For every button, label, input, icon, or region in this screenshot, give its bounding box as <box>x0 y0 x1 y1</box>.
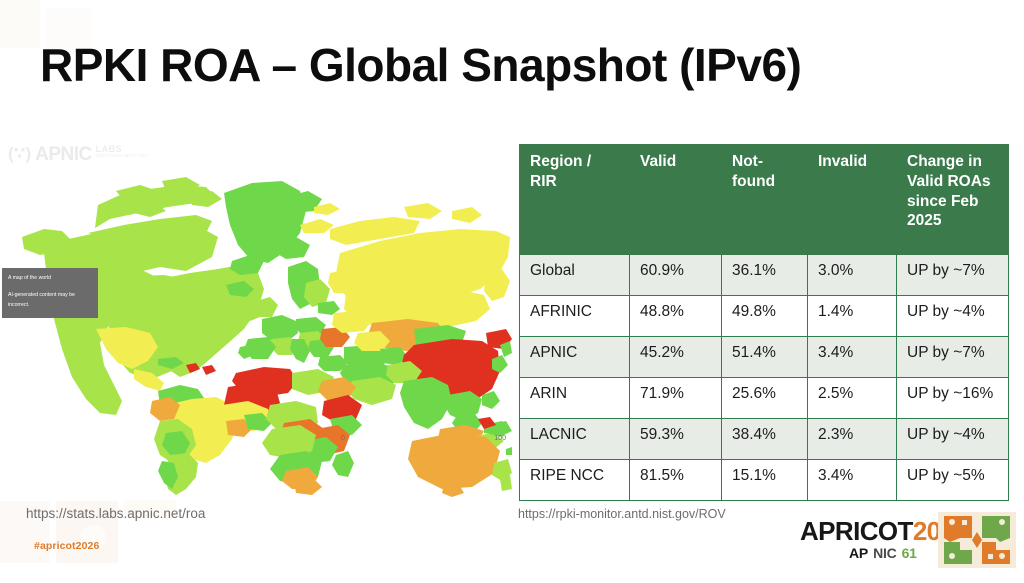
cell-not-found: 15.1% <box>722 460 808 501</box>
cell-invalid: 3.4% <box>808 460 897 501</box>
cell-not-found: 36.1% <box>722 255 808 296</box>
cell-invalid: 2.3% <box>808 419 897 460</box>
table-row: LACNIC 59.3% 38.4% 2.3% UP by ~4% <box>520 419 1009 460</box>
source-link-nist[interactable]: https://rpki-monitor.antd.nist.gov/ROV <box>518 507 726 521</box>
world-map-figure: (∵) APNIC LABS http://stats.apnic.net A … <box>0 133 512 500</box>
logo-batik-motif-icon <box>938 512 1016 568</box>
cell-valid: 48.8% <box>630 296 722 337</box>
page-title: RPKI ROA – Global Snapshot (IPv6) <box>40 40 970 91</box>
ai-content-disclaimer: A map of the world AI-generated content … <box>2 268 98 318</box>
cell-valid: 45.2% <box>630 337 722 378</box>
cell-region: LACNIC <box>520 419 630 460</box>
cell-not-found: 49.8% <box>722 296 808 337</box>
cell-change: UP by ~4% <box>897 296 1009 337</box>
logo-ap-text: AP <box>849 545 868 561</box>
cell-region: APNIC <box>520 337 630 378</box>
column-header-invalid: Invalid <box>808 145 897 255</box>
scale-max-label: 100 <box>494 435 506 442</box>
cell-valid: 59.3% <box>630 419 722 460</box>
cell-valid: 60.9% <box>630 255 722 296</box>
cell-not-found: 51.4% <box>722 337 808 378</box>
table-header-row: Region / RIR Valid Not-found Invalid Cha… <box>520 145 1009 255</box>
source-link-apnic[interactable]: https://stats.labs.apnic.net/roa <box>26 506 205 521</box>
cell-change: UP by ~16% <box>897 378 1009 419</box>
logo-apricot-text: APRICOT <box>800 518 913 544</box>
logo-nic-text: NIC <box>873 545 897 561</box>
table-row: AFRINIC 48.8% 49.8% 1.4% UP by ~4% <box>520 296 1009 337</box>
ai-disclaimer-warning: AI-generated content may be incorrect. <box>8 291 92 311</box>
column-header-region: Region / RIR <box>520 145 630 255</box>
cell-not-found: 25.6% <box>722 378 808 419</box>
cell-invalid: 3.0% <box>808 255 897 296</box>
apricot-2026-logo: APRICOT 2026 AP NIC 61 <box>794 512 1016 568</box>
event-hashtag: #apricot2026 <box>34 540 99 552</box>
logo-number-text: 61 <box>902 545 917 561</box>
cell-invalid: 1.4% <box>808 296 897 337</box>
cell-change: UP by ~7% <box>897 255 1009 296</box>
column-header-valid: Valid <box>630 145 722 255</box>
table-row: ARIN 71.9% 25.6% 2.5% UP by ~16% <box>520 378 1009 419</box>
cell-invalid: 2.5% <box>808 378 897 419</box>
cell-region: AFRINIC <box>520 296 630 337</box>
cell-invalid: 3.4% <box>808 337 897 378</box>
cell-region: Global <box>520 255 630 296</box>
logo-apnic-line: AP NIC 61 <box>849 545 917 561</box>
cell-region: ARIN <box>520 378 630 419</box>
cell-change: UP by ~7% <box>897 337 1009 378</box>
table-row: RIPE NCC 81.5% 15.1% 3.4% UP by ~5% <box>520 460 1009 501</box>
column-header-not-found: Not-found <box>722 145 808 255</box>
map-color-scale: 0 100 <box>0 435 512 449</box>
cell-not-found: 38.4% <box>722 419 808 460</box>
cell-valid: 81.5% <box>630 460 722 501</box>
table-row: APNIC 45.2% 51.4% 3.4% UP by ~7% <box>520 337 1009 378</box>
scale-min-label: 0 <box>341 435 345 442</box>
cell-change: UP by ~5% <box>897 460 1009 501</box>
table-row: Global 60.9% 36.1% 3.0% UP by ~7% <box>520 255 1009 296</box>
column-header-change: Change in Valid ROAs since Feb 2025 <box>897 145 1009 255</box>
cell-change: UP by ~4% <box>897 419 1009 460</box>
rpki-roa-statistics-table: Region / RIR Valid Not-found Invalid Cha… <box>519 144 1009 501</box>
cell-valid: 71.9% <box>630 378 722 419</box>
cell-region: RIPE NCC <box>520 460 630 501</box>
ai-disclaimer-caption: A map of the world <box>8 275 51 281</box>
